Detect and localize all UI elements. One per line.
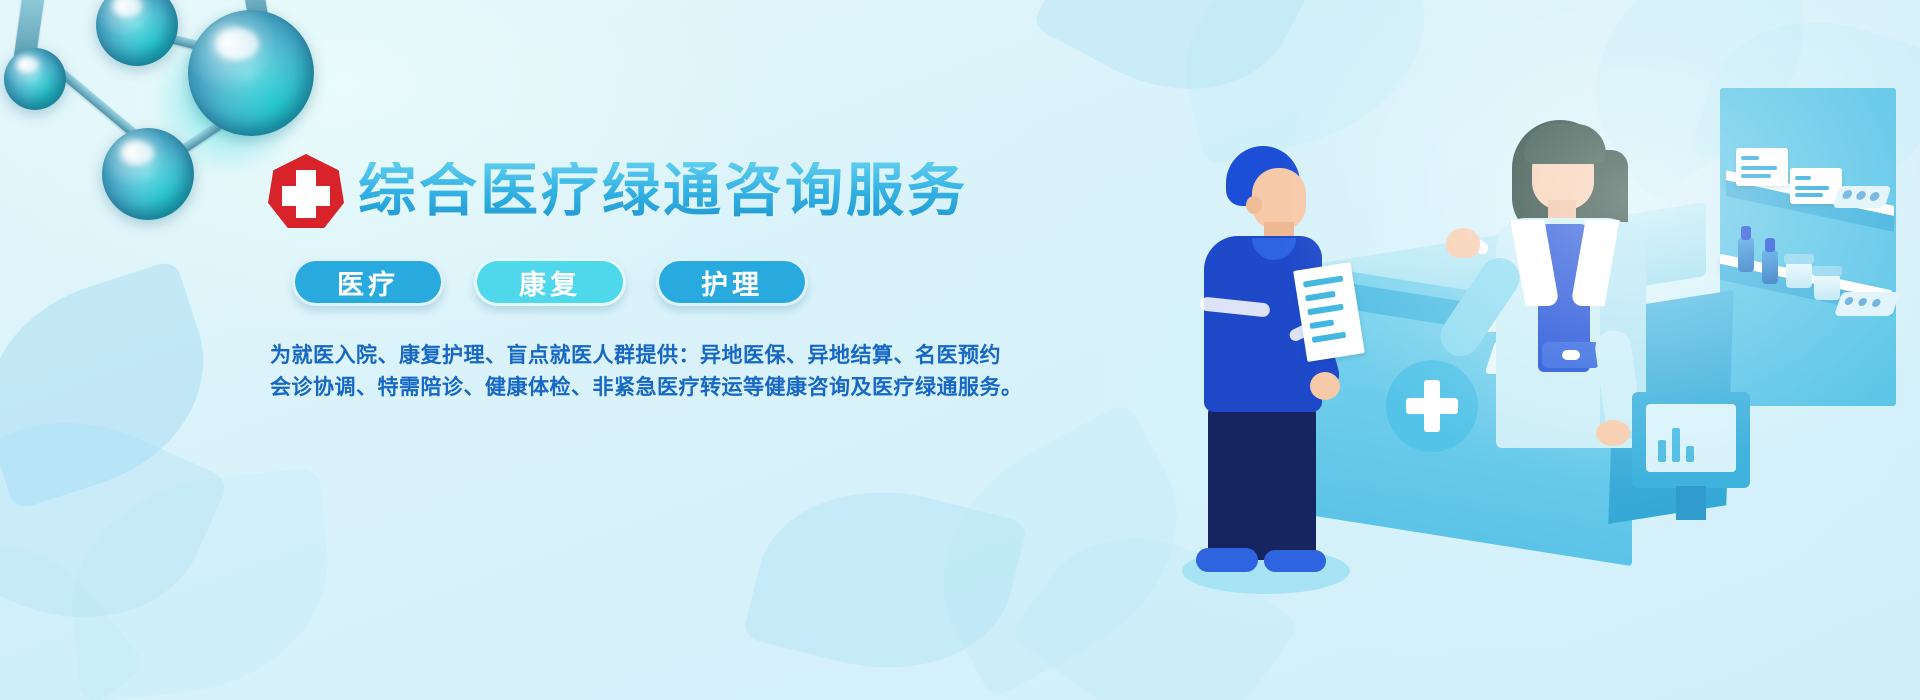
pharmacy-illustration	[1160, 0, 1920, 700]
patient-ear	[1246, 196, 1262, 214]
service-tag-label: 护理	[701, 263, 763, 302]
red-cross-emblem-icon	[268, 154, 344, 228]
service-tag-nursing[interactable]: 护理	[656, 258, 808, 306]
terminal-display	[1646, 404, 1736, 472]
description-line-1: 为就医入院、康复护理、盲点就医人群提供：异地医保、异地结算、名医预约	[270, 340, 1010, 372]
service-tag-medical[interactable]: 医疗	[292, 258, 444, 306]
pharmacist-gesturing-hand	[1446, 228, 1480, 258]
pharmacist-belt-buckle	[1562, 350, 1580, 360]
banner-copy: 综合医疗绿通咨询服务 综合医疗绿通咨询服务 医疗 康复 护理 为就医入院、康复护…	[268, 150, 1028, 404]
medicine-jar-icon	[1786, 262, 1812, 288]
description-line-2: 会诊协调、特需陪诊、健康体检、非紧急医疗转运等健康咨询及医疗绿通服务。	[270, 372, 1010, 404]
molecule-graphic	[0, 0, 312, 230]
dropper-bottle-icon	[1738, 238, 1754, 272]
patient-hand	[1310, 372, 1340, 400]
patient-shoe	[1264, 550, 1326, 572]
service-tag-label: 医疗	[337, 263, 399, 302]
medicine-jar-lid-icon	[1812, 266, 1842, 276]
title-row: 综合医疗绿通咨询服务 综合医疗绿通咨询服务	[268, 150, 1028, 232]
dropper-cap-icon	[1765, 238, 1775, 252]
counter-cross-icon	[1386, 360, 1478, 452]
pill-blister-icon	[1834, 292, 1900, 316]
pharmacist-resting-hand	[1596, 420, 1630, 446]
pharmacist-fringe	[1524, 124, 1606, 164]
dropper-cap-icon	[1741, 226, 1751, 240]
medicine-jar-lid-icon	[1784, 254, 1814, 264]
service-tag-rehabilitation[interactable]: 康复	[474, 258, 626, 306]
medicine-jar-icon	[1814, 274, 1840, 300]
banner-description: 为就医入院、康复护理、盲点就医人群提供：异地医保、异地结算、名医预约 会诊协调、…	[270, 340, 1010, 404]
patient-trousers	[1208, 400, 1316, 560]
dropper-bottle-icon	[1762, 250, 1778, 284]
medicine-box-icon	[1736, 148, 1788, 186]
pill-blister-icon	[1832, 186, 1891, 208]
service-tag-list: 医疗 康复 护理	[292, 258, 1028, 306]
terminal-stand	[1676, 486, 1706, 520]
service-tag-label: 康复	[519, 263, 581, 302]
medical-service-banner: 综合医疗绿通咨询服务 综合医疗绿通咨询服务 医疗 康复 护理 为就医入院、康复护…	[0, 0, 1920, 700]
page-title: 综合医疗绿通咨询服务	[358, 162, 968, 220]
patient-shoe	[1196, 548, 1258, 572]
